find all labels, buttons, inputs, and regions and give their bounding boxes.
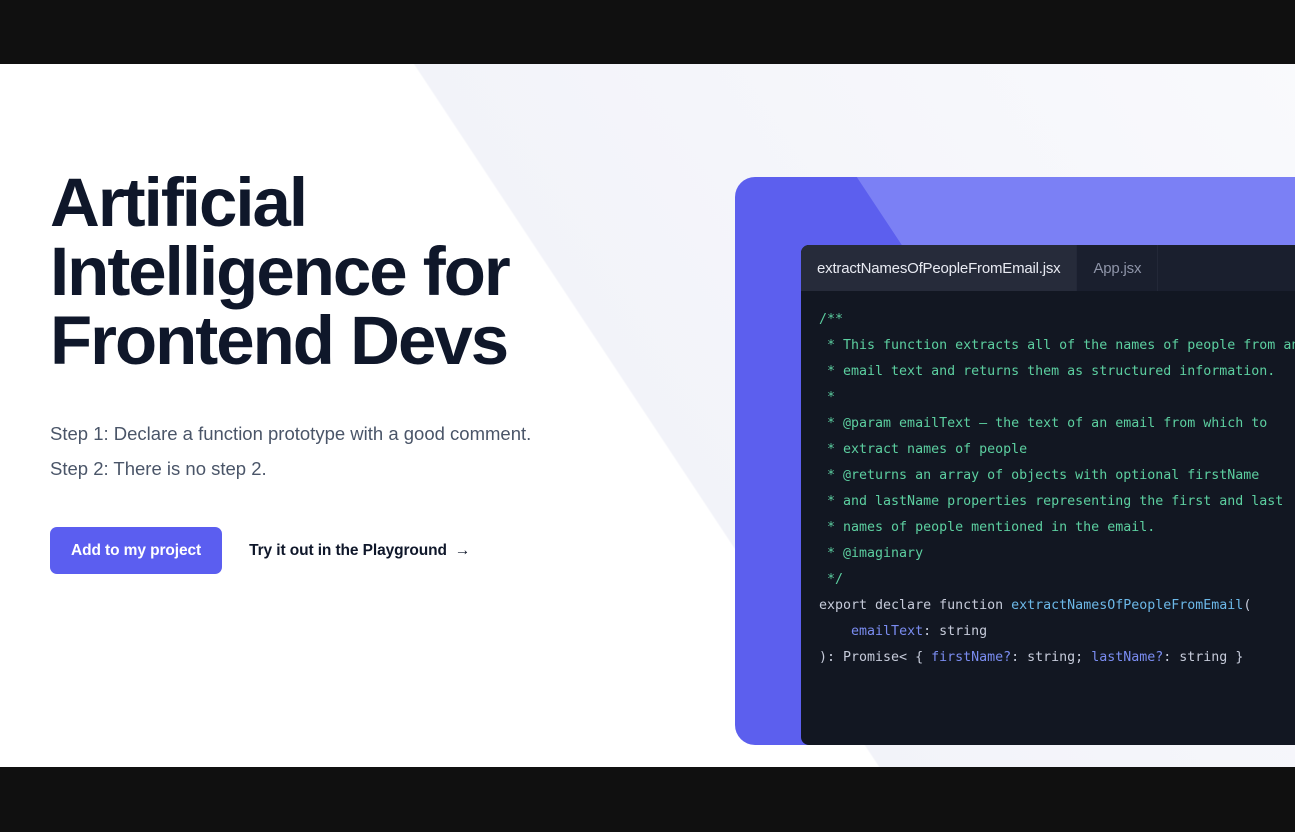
code-line: * names of people mentioned in the email… [819,515,1295,541]
code-token-plain: : string } [1163,650,1243,665]
code-token-plain: ( [1243,598,1251,613]
try-playground-link[interactable]: Try it out in the Playground → [249,542,470,560]
code-token-comment: * and lastName properties representing t… [819,494,1283,509]
page-root: Artificial Intelligence for Frontend Dev… [0,0,1295,832]
code-token-plain: : string [923,624,987,639]
code-line: */ [819,567,1295,593]
cta-row: Add to my project Try it out in the Play… [50,527,650,574]
code-line: emailText: string [819,619,1295,645]
code-token-comment: * extract names of people [819,442,1027,457]
code-editor-panel: extractNamesOfPeopleFromEmail.jsx App.js… [801,245,1295,745]
tab-extract-names-of-people-from-email[interactable]: extractNamesOfPeopleFromEmail.jsx [801,245,1077,291]
code-token-comment: * This function extracts all of the name… [819,338,1295,353]
tab-bar-empty-space [1158,245,1295,291]
arrow-right-icon: → [455,542,470,560]
code-line: * This function extracts all of the name… [819,333,1295,359]
bottom-dark-bar [0,767,1295,832]
code-token-ident: firstName? [931,650,1011,665]
code-token-comment: */ [819,572,843,587]
code-line: * [819,385,1295,411]
code-line: ): Promise< { firstName?: string; lastNa… [819,645,1295,671]
hero-stage: Artificial Intelligence for Frontend Dev… [0,64,1295,767]
code-token-comment: * @returns an array of objects with opti… [819,468,1259,483]
code-token-comment: * names of people mentioned in the email… [819,520,1155,535]
code-line: export declare function extractNamesOfPe… [819,593,1295,619]
hero-subtitle: Step 1: Declare a function prototype wit… [50,416,650,486]
code-token-ident: emailText [851,624,923,639]
add-to-my-project-button[interactable]: Add to my project [50,527,222,574]
code-token-plain [819,624,851,639]
code-token-ident: lastName? [1091,650,1163,665]
code-content[interactable]: /** * This function extracts all of the … [801,291,1295,671]
tab-label: App.jsx [1093,260,1141,277]
editor-tab-bar: extractNamesOfPeopleFromEmail.jsx App.js… [801,245,1295,291]
page-title: Artificial Intelligence for Frontend Dev… [50,168,650,375]
code-line: * extract names of people [819,437,1295,463]
tab-label: extractNamesOfPeopleFromEmail.jsx [817,260,1060,277]
code-line: * @returns an array of objects with opti… [819,463,1295,489]
code-line: * and lastName properties representing t… [819,489,1295,515]
code-line: * email text and returns them as structu… [819,359,1295,385]
code-token-comment: * @imaginary [819,546,923,561]
code-token-plain: ): Promise< { [819,650,931,665]
code-token-comment: * @param emailText — the text of an emai… [819,416,1267,431]
code-token-fn: extractNamesOfPeopleFromEmail [1011,598,1243,613]
code-line: /** [819,307,1295,333]
code-token-comment: * email text and returns them as structu… [819,364,1275,379]
try-playground-label: Try it out in the Playground [249,542,447,560]
code-token-plain: export declare function [819,598,1011,613]
code-line: * @imaginary [819,541,1295,567]
code-token-comment: /** [819,312,843,327]
tab-app-jsx[interactable]: App.jsx [1077,245,1158,291]
code-token-plain: : string; [1011,650,1091,665]
hero-copy: Artificial Intelligence for Frontend Dev… [50,168,650,574]
subtitle-line-2: Step 2: There is no step 2. [50,451,650,486]
top-dark-bar [0,0,1295,64]
code-token-comment: * [819,390,835,405]
subtitle-line-1: Step 1: Declare a function prototype wit… [50,416,650,451]
code-line: * @param emailText — the text of an emai… [819,411,1295,437]
